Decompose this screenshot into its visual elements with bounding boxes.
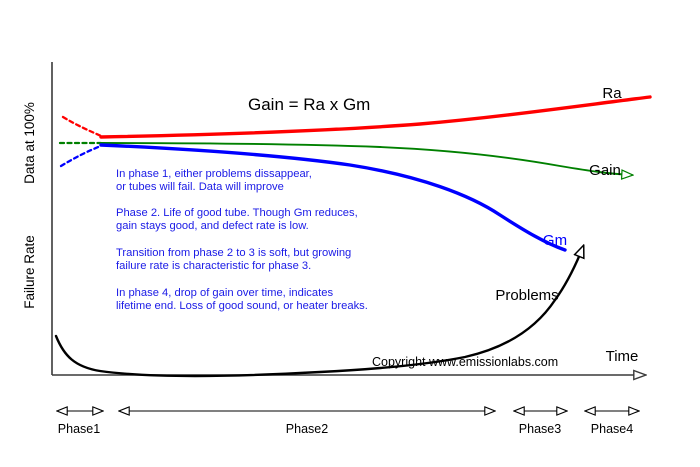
phase-markers-group: Phase1 Phase2 Phase3 Phase4 <box>58 411 638 436</box>
note-line-3: Phase 2. Life of good tube. Though Gm re… <box>116 207 358 219</box>
note-line-7: In phase 4, drop of gain over time, indi… <box>116 287 333 299</box>
problems-curve-label: Problems <box>495 287 558 304</box>
note-line-8: lifetime end. Loss of good sound, or hea… <box>116 300 368 312</box>
notes-group: In phase 1, either problems dissappear, … <box>116 168 368 312</box>
ra-dashed-segment <box>63 117 101 136</box>
gain-curve-label: Gain <box>589 162 621 179</box>
x-axis-label: Time <box>606 348 639 365</box>
diagram-canvas: Data at 100% Failure Rate Time Gain = Ra… <box>0 0 700 467</box>
note-line-5: Transition from phase 2 to 3 is soft, bu… <box>116 247 351 259</box>
note-line-1: In phase 1, either problems dissappear, <box>116 168 312 180</box>
ra-curve <box>101 97 650 137</box>
note-line-6: failure rate is characteristic for phase… <box>116 260 311 272</box>
note-line-4: gain stays good, and defect rate is low. <box>116 220 309 232</box>
tube-lifecycle-diagram: Data at 100% Failure Rate Time Gain = Ra… <box>0 0 700 467</box>
gain-formula-title: Gain = Ra x Gm <box>248 95 370 114</box>
copyright-notice: Copyright www.emissionlabs.com <box>372 355 558 369</box>
y-axis-upper-label: Data at 100% <box>22 102 37 184</box>
note-line-2: or tubes will fail. Data will improve <box>116 181 284 193</box>
gm-dashed-segment <box>61 146 101 166</box>
y-axis-lower-label: Failure Rate <box>22 235 37 309</box>
phase1-spread-dashed-group <box>60 117 101 166</box>
phase1-label: Phase1 <box>58 422 100 436</box>
phase2-label: Phase2 <box>286 422 328 436</box>
ra-curve-label: Ra <box>602 85 622 102</box>
phase4-label: Phase4 <box>591 422 633 436</box>
phase3-label: Phase3 <box>519 422 561 436</box>
gm-curve-label: Gm <box>543 232 567 249</box>
gm-curve <box>101 145 565 250</box>
